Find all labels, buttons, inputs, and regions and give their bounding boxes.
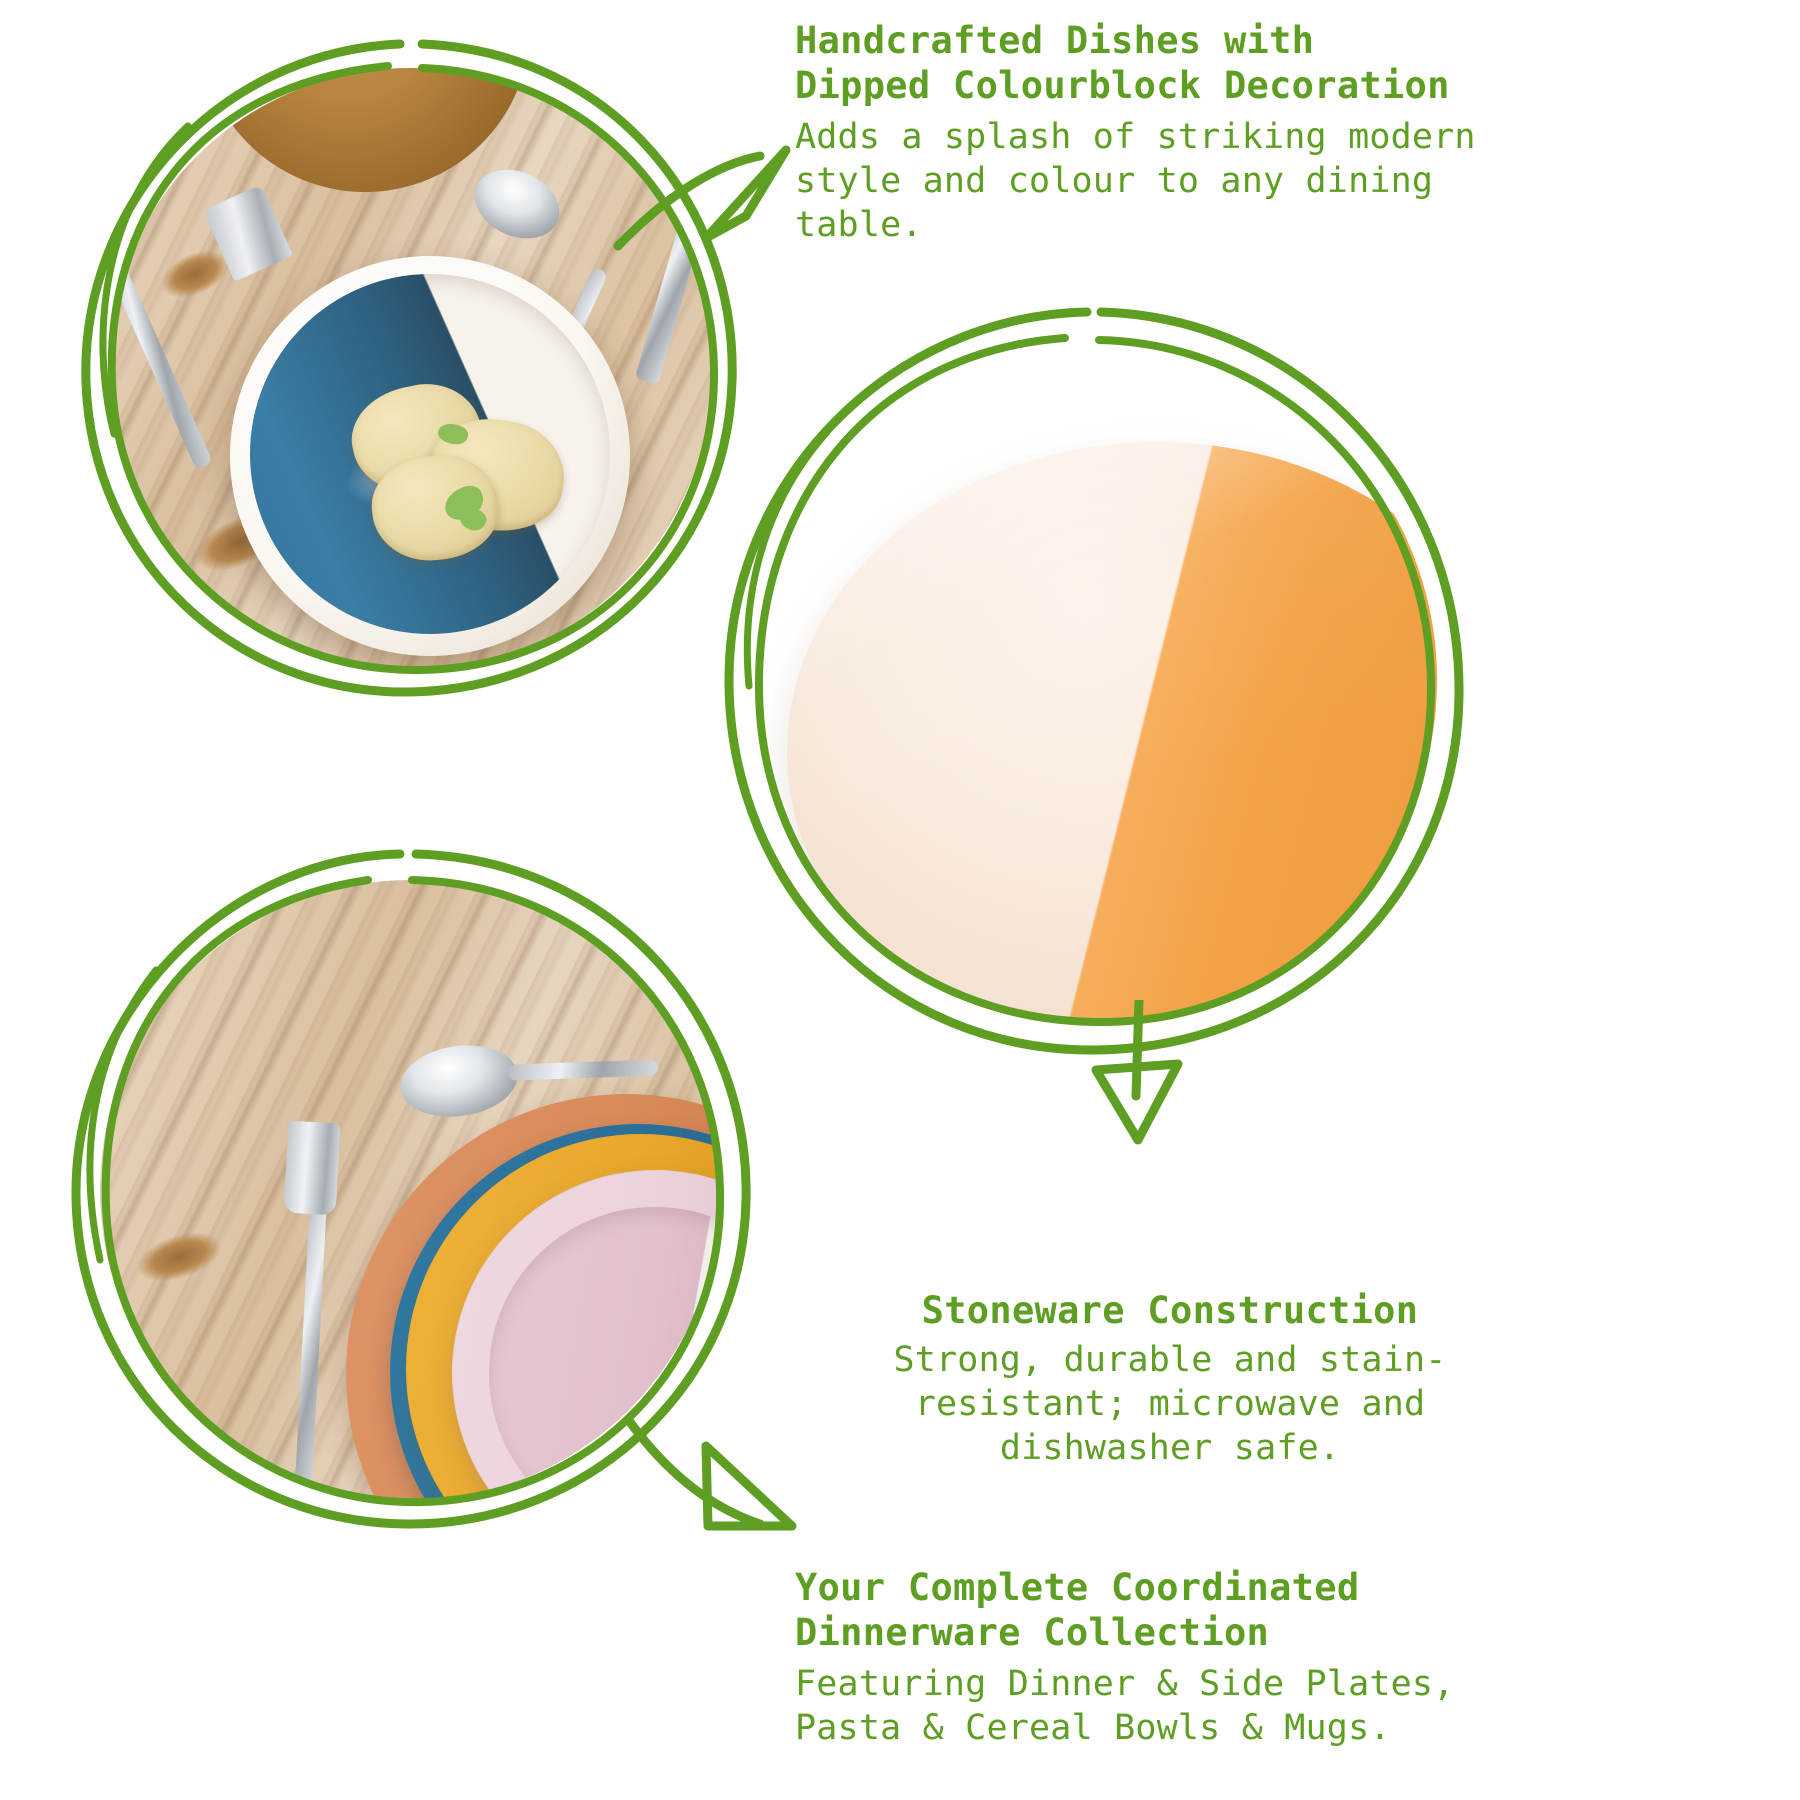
body-line: style and colour to any dining: [795, 160, 1780, 204]
feature-collection-body: Featuring Dinner & Side Plates, Pasta & …: [795, 1663, 1780, 1751]
body-line: Adds a splash of striking modern: [795, 116, 1780, 160]
plate-sheen: [787, 442, 1437, 1022]
title-line: Dinnerware Collection: [795, 1610, 1780, 1655]
feature-collection-title: Your Complete Coordinated Dinnerware Col…: [795, 1565, 1780, 1655]
body-line: Featuring Dinner & Side Plates,: [795, 1663, 1780, 1707]
body-line: Pasta & Cereal Bowls & Mugs.: [795, 1707, 1780, 1751]
feature-handcrafted-title: Handcrafted Dishes with Dipped Colourblo…: [795, 18, 1780, 108]
white-studio-background: [753, 338, 1437, 1022]
arrow-down-icon: [1078, 1000, 1208, 1150]
feature-collection: Your Complete Coordinated Dinnerware Col…: [795, 1565, 1780, 1751]
feature-handcrafted: Handcrafted Dishes with Dipped Colourblo…: [795, 18, 1780, 248]
arrow-up-right-icon: [610, 120, 800, 260]
body-line: table.: [795, 204, 1780, 248]
orange-dipped-plate: [787, 442, 1437, 1022]
arrow-right-icon: [620, 1400, 820, 1550]
photo-orange-plate-image: [753, 338, 1437, 1022]
title-line: Your Complete Coordinated: [795, 1565, 1780, 1610]
feature-stoneware-title: Stoneware Construction: [800, 1288, 1540, 1333]
feature-stoneware: Stoneware Construction Strong, durable a…: [800, 1288, 1540, 1470]
title-line: Stoneware Construction: [800, 1288, 1540, 1333]
body-line: Strong, durable and stain-: [800, 1339, 1540, 1383]
feature-stoneware-body: Strong, durable and stain- resistant; mi…: [800, 1339, 1540, 1470]
fork-tines-icon: [284, 1121, 341, 1216]
photo-orange-plate: [715, 300, 1475, 1060]
body-line: resistant; microwave and: [800, 1383, 1540, 1427]
body-line: dishwasher safe.: [800, 1427, 1540, 1471]
title-line: Handcrafted Dishes with: [795, 18, 1780, 63]
title-line: Dipped Colourblock Decoration: [795, 63, 1780, 108]
infographic-canvas: Handcrafted Dishes with Dipped Colourblo…: [0, 0, 1800, 1800]
feature-handcrafted-body: Adds a splash of striking modern style a…: [795, 116, 1780, 247]
